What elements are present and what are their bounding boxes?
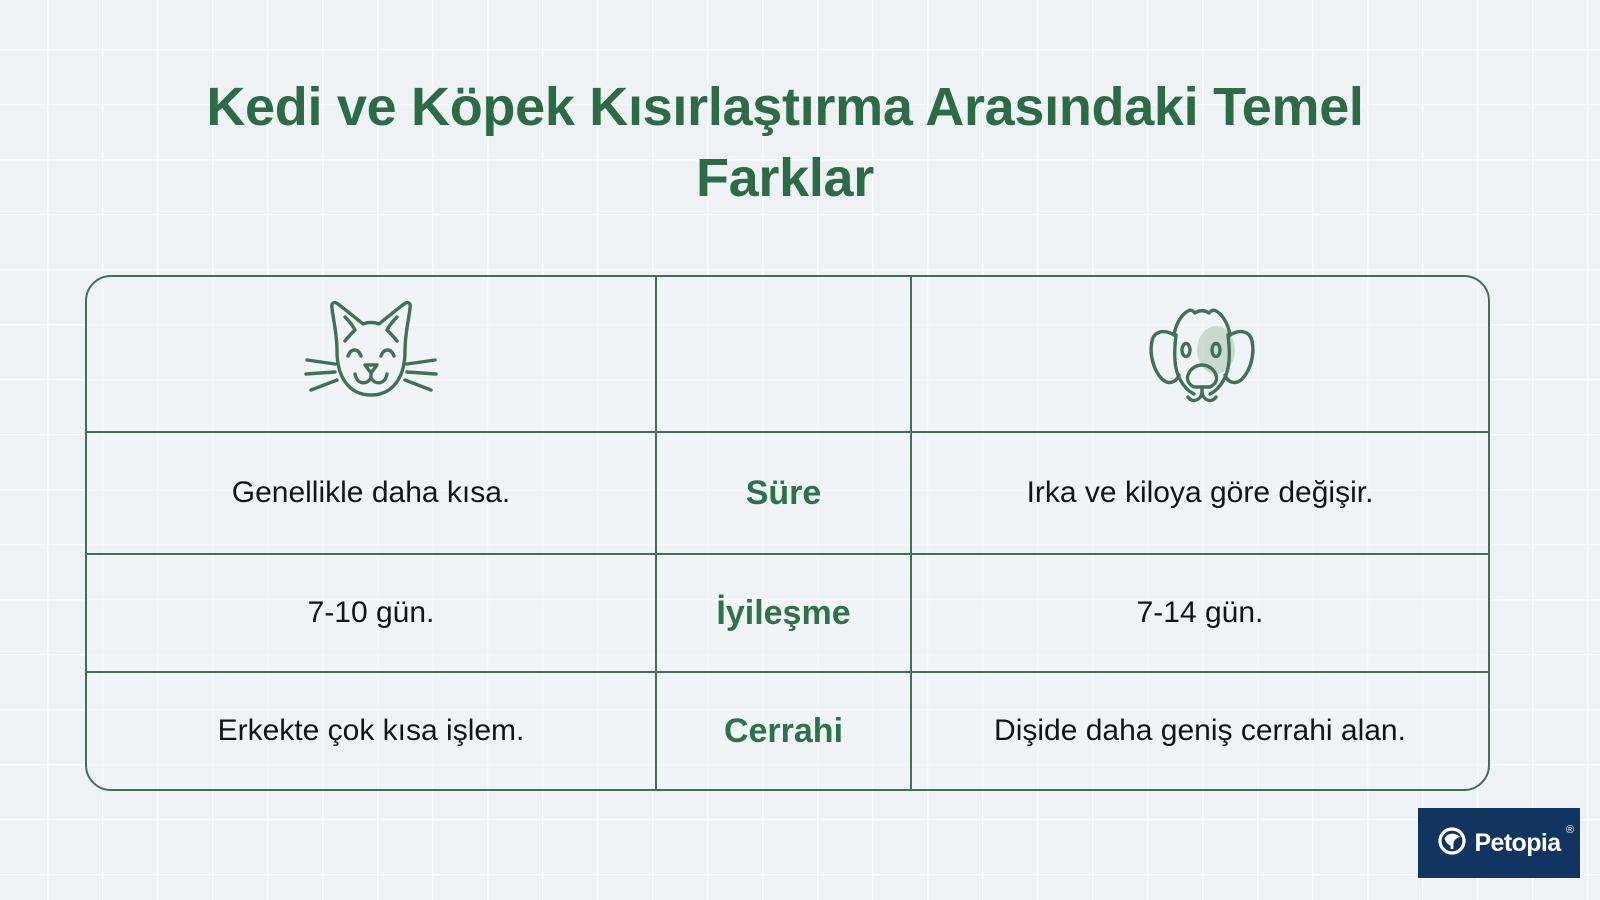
- cell-cat-value: 7-10 gün.: [87, 555, 657, 671]
- petopia-logo: Petopia®: [1418, 808, 1580, 878]
- row-label: Cerrahi: [724, 711, 843, 752]
- infographic-page: Kedi ve Köpek Kısırlaştırma Arasındaki T…: [0, 0, 1600, 900]
- table-row: Erkekte çok kısa işlem. Cerrahi Dişide d…: [87, 673, 1488, 789]
- cat-face-icon: [103, 281, 639, 427]
- cell-text: Erkekte çok kısa işlem.: [218, 712, 525, 750]
- petopia-name: Petopia: [1474, 829, 1560, 857]
- petopia-wordmark: Petopia®: [1474, 829, 1560, 858]
- petopia-dog-mark-icon: [1437, 826, 1467, 861]
- registered-mark: ®: [1566, 824, 1574, 836]
- cell-header-middle: [657, 277, 912, 431]
- cell-cat-value: Erkekte çok kısa işlem.: [87, 673, 657, 789]
- row-label: İyileşme: [716, 593, 850, 634]
- table-row: 7-10 gün. İyileşme 7-14 gün.: [87, 555, 1488, 673]
- cell-cat-icon: [87, 277, 657, 431]
- table-row: Genellikle daha kısa. Süre Irka ve kiloy…: [87, 433, 1488, 555]
- cell-text: 7-10 gün.: [308, 594, 435, 632]
- table-row-icons: [87, 277, 1488, 433]
- cell-text: Genellikle daha kısa.: [232, 474, 511, 512]
- cell-cat-value: Genellikle daha kısa.: [87, 433, 657, 553]
- comparison-table: Genellikle daha kısa. Süre Irka ve kiloy…: [85, 275, 1490, 791]
- cell-text: 7-14 gün.: [1137, 594, 1264, 632]
- cell-text: Dişide daha geniş cerrahi alan.: [994, 712, 1406, 750]
- page-title: Kedi ve Köpek Kısırlaştırma Arasındaki T…: [150, 72, 1420, 215]
- cell-row-label: Süre: [657, 433, 912, 553]
- cell-dog-icon: [912, 277, 1488, 431]
- dog-face-icon: [928, 281, 1472, 427]
- cell-dog-value: Irka ve kiloya göre değişir.: [912, 433, 1488, 553]
- cell-text: Irka ve kiloya göre değişir.: [1027, 474, 1374, 512]
- row-label: Süre: [746, 473, 822, 514]
- cell-row-label: İyileşme: [657, 555, 912, 671]
- cell-dog-value: Dişide daha geniş cerrahi alan.: [912, 673, 1488, 789]
- cell-row-label: Cerrahi: [657, 673, 912, 789]
- cell-dog-value: 7-14 gün.: [912, 555, 1488, 671]
